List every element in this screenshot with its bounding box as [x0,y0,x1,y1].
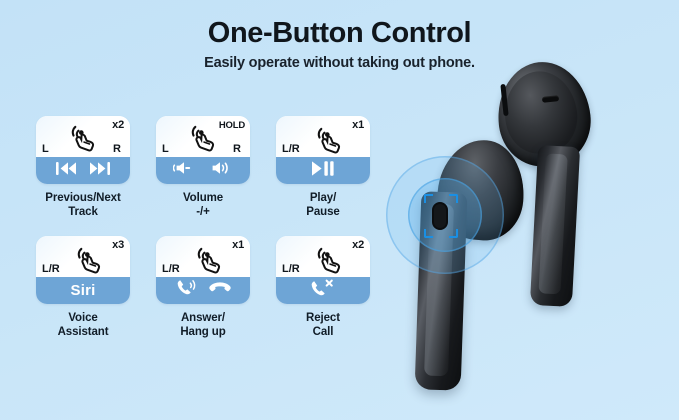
earbud-right-stem [530,145,580,307]
side-label-left: L [42,144,49,155]
tap-count-badge: x1 [232,240,244,251]
feature-card[interactable]: HOLD L R [156,116,250,184]
card-gesture-area: x2 L R [36,116,130,157]
tap-count-badge: x2 [112,120,124,131]
caption-line-2: Hang up [180,325,225,339]
side-label-left: L/R [162,264,180,275]
feature-card[interactable]: x2 L R [36,116,130,184]
caption-line-2: Assistant [58,325,109,339]
side-label-left: L [162,144,169,155]
card-action-area [156,277,250,304]
feature-previous-next-track[interactable]: x2 L R [36,116,130,220]
reject-call-icon [310,278,336,302]
feature-card[interactable]: x2 L/R [276,236,370,304]
feature-caption: Play/ Pause [306,191,339,220]
feature-caption: Previous/Next Track [45,191,120,220]
card-gesture-area: HOLD L R [156,116,250,157]
tap-count-badge: x1 [352,120,364,131]
feature-card[interactable]: x3 L/R Siri [36,236,130,304]
card-gesture-area: x2 L/R [276,236,370,277]
card-action-area [36,157,130,184]
feature-volume[interactable]: HOLD L R [156,116,250,220]
play-pause-icon [309,159,337,183]
siri-label: Siri [71,282,96,299]
caption-line-1: Volume [183,191,223,205]
caption-line-2: Pause [306,205,339,219]
feature-voice-assistant[interactable]: x3 L/R Siri [36,236,130,340]
card-gesture-area: x1 L/R [156,236,250,277]
tap-count-badge: x2 [352,240,364,251]
earbud-left [394,140,524,400]
feature-caption: Reject Call [306,311,340,340]
caption-line-2: -/+ [183,205,223,219]
hang-up-icon [209,280,231,300]
tap-hand-icon [66,120,100,159]
touch-bracket-top-left [424,194,433,203]
card-gesture-area: x1 L/R [276,116,370,157]
side-label-left: L/R [282,264,300,275]
touch-bracket-bottom-right [449,229,458,238]
feature-card[interactable]: x1 L/R [156,236,250,304]
feature-grid: x2 L R [36,116,396,340]
caption-line-2: Track [45,205,120,219]
tap-hand-icon [192,242,226,281]
caption-line-2: Call [306,325,340,339]
previous-track-icon [55,160,77,182]
product-image [386,0,679,420]
feature-caption: Voice Assistant [58,311,109,340]
touch-sensor-pad [432,202,448,230]
feature-answer-hangup[interactable]: x1 L/R [156,236,250,340]
feature-caption: Volume -/+ [183,191,223,220]
card-action-area: Siri [36,277,130,304]
answer-call-icon [176,278,197,302]
tap-hand-icon [186,120,220,159]
caption-line-1: Answer/ [180,311,225,325]
feature-play-pause[interactable]: x1 L/R [276,116,370,220]
feature-reject-call[interactable]: x2 L/R [276,236,370,340]
card-action-area [276,277,370,304]
side-label-left: L/R [282,144,300,155]
touch-bracket-top-right [449,194,458,203]
volume-up-icon [209,159,233,182]
side-label-right: R [233,144,241,155]
caption-line-1: Voice [58,311,109,325]
card-action-area [276,157,370,184]
volume-down-icon [173,159,197,182]
tap-hand-icon [312,122,346,161]
tap-count-badge: HOLD [219,121,245,131]
tap-hand-icon [72,242,106,281]
tap-count-badge: x3 [112,240,124,251]
caption-line-1: Play/ [306,191,339,205]
touch-bracket-bottom-left [424,229,433,238]
feature-card[interactable]: x1 L/R [276,116,370,184]
next-track-icon [89,160,111,182]
caption-line-1: Reject [306,311,340,325]
feature-caption: Answer/ Hang up [180,311,225,340]
card-gesture-area: x3 L/R [36,236,130,277]
side-label-left: L/R [42,264,60,275]
side-label-right: R [113,144,121,155]
caption-line-1: Previous/Next [45,191,120,205]
tap-hand-icon [312,242,346,281]
card-action-area [156,157,250,184]
